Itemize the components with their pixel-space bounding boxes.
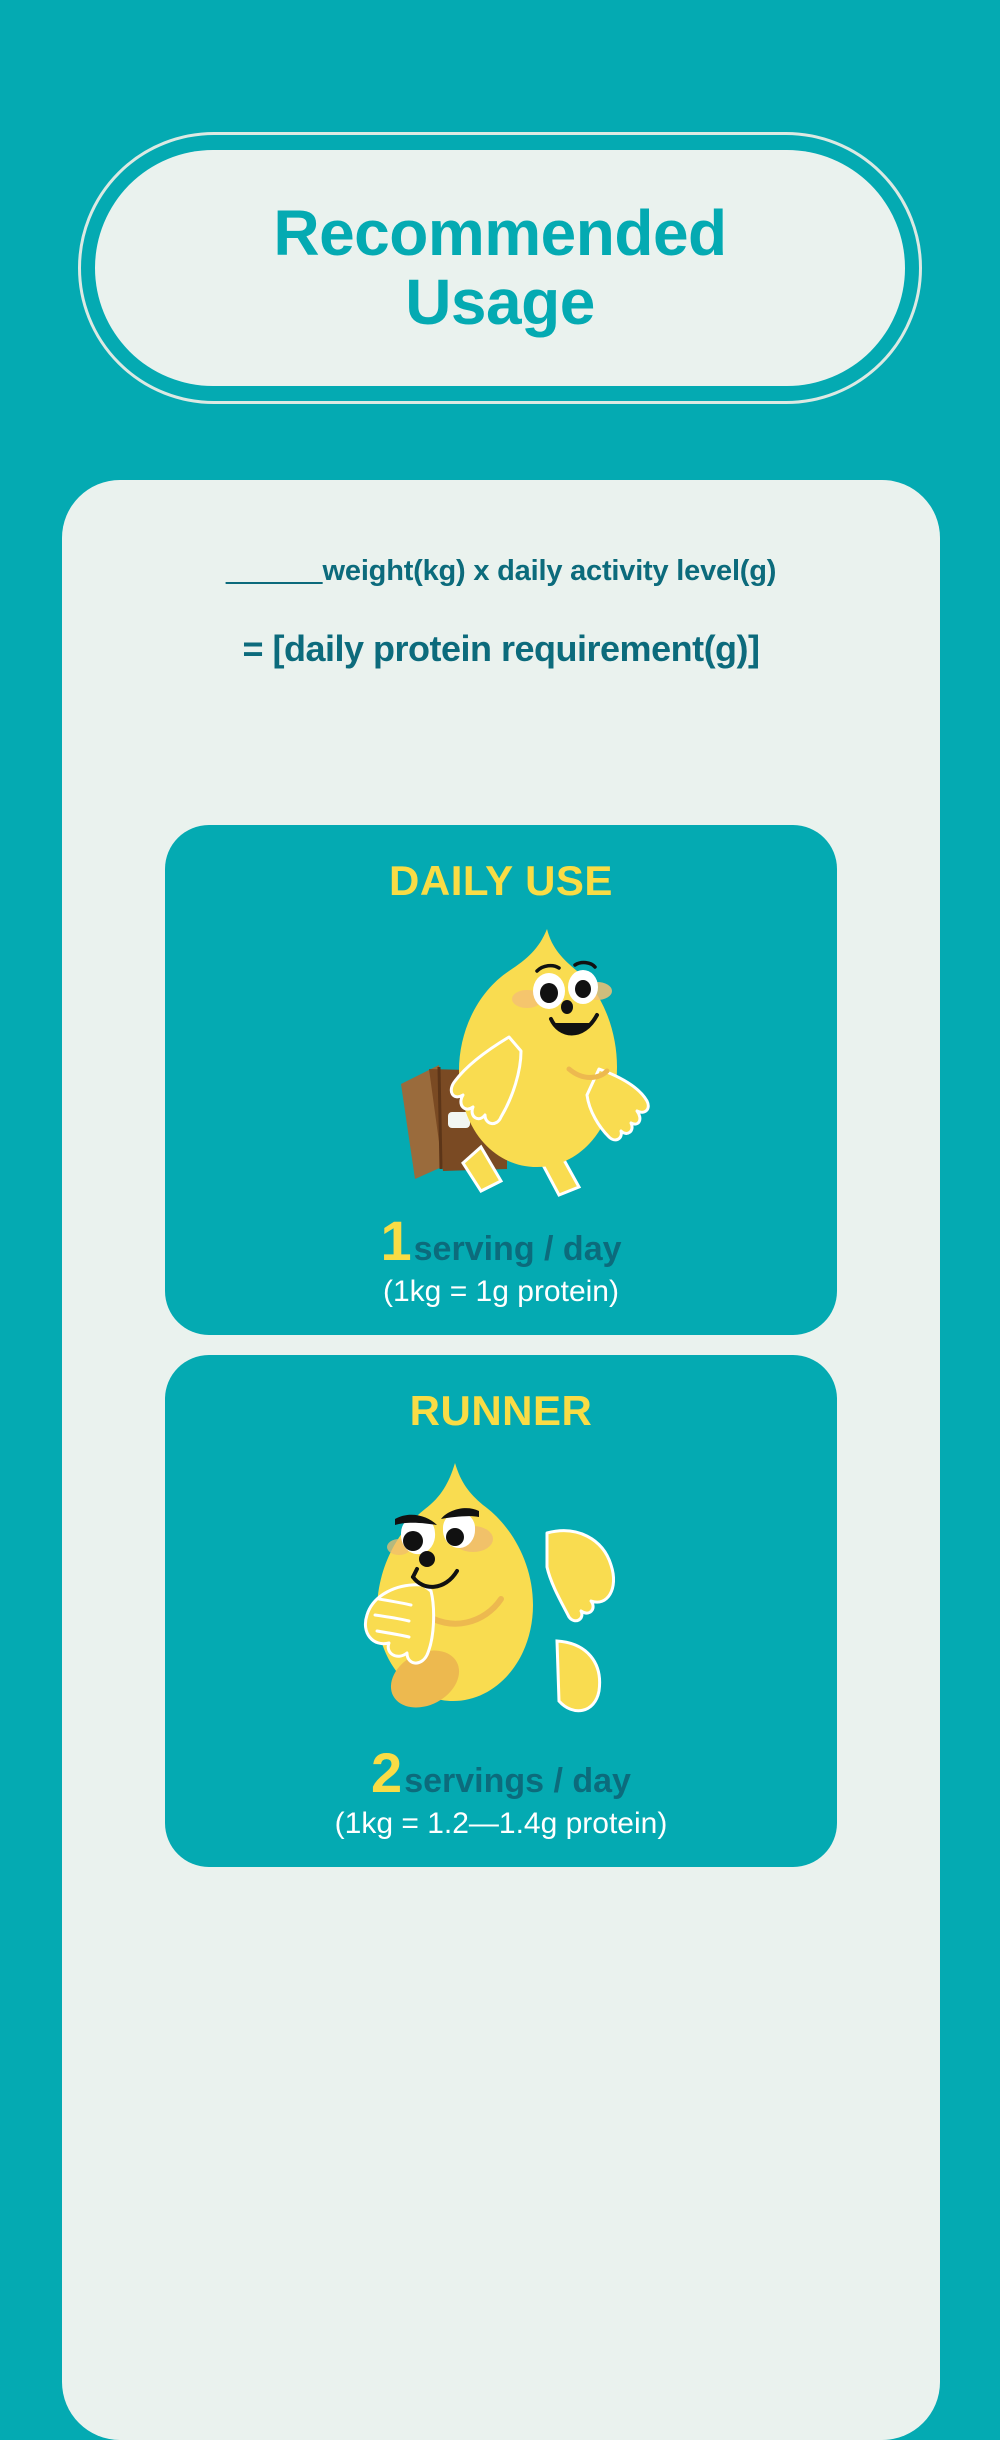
usage-card-daily: DAILY USE xyxy=(165,825,837,1335)
serving-number-runner: 2 xyxy=(371,1745,402,1801)
mascot-with-briefcase-icon xyxy=(331,919,671,1199)
page-title: Recommended Usage xyxy=(273,199,726,337)
content-card: ______weight(kg) x daily activity level(… xyxy=(62,480,940,2440)
formula-block: ______weight(kg) x daily activity level(… xyxy=(62,555,940,670)
formula-line-2: = [daily protein requirement(g)] xyxy=(62,628,940,670)
header-pill: Recommended Usage xyxy=(95,150,905,386)
page-title-line1: Recommended xyxy=(273,199,726,268)
serving-line-runner: 2 servings / day xyxy=(371,1745,631,1801)
serving-number-daily: 1 xyxy=(380,1213,411,1269)
page-title-line2: Usage xyxy=(273,268,726,337)
mascot-daily-wrap xyxy=(165,905,837,1213)
protein-note-daily: (1kg = 1g protein) xyxy=(383,1275,619,1309)
protein-note-runner: (1kg = 1.2—1.4g protein) xyxy=(335,1807,668,1841)
mascot-runner-wrap xyxy=(165,1435,837,1745)
serving-unit-daily: serving / day xyxy=(414,1230,622,1269)
formula-line-1: ______weight(kg) x daily activity level(… xyxy=(62,555,940,588)
serving-line-daily: 1 serving / day xyxy=(380,1213,621,1269)
serving-unit-runner: servings / day xyxy=(404,1762,631,1801)
formula-line-1-text: weight(kg) x daily activity level(g) xyxy=(323,555,777,587)
usage-card-runner: RUNNER xyxy=(165,1355,837,1867)
card-title-daily: DAILY USE xyxy=(389,857,613,905)
card-title-runner: RUNNER xyxy=(410,1387,593,1435)
mascot-running-icon xyxy=(351,1455,651,1725)
weight-blank: ______ xyxy=(226,555,323,587)
